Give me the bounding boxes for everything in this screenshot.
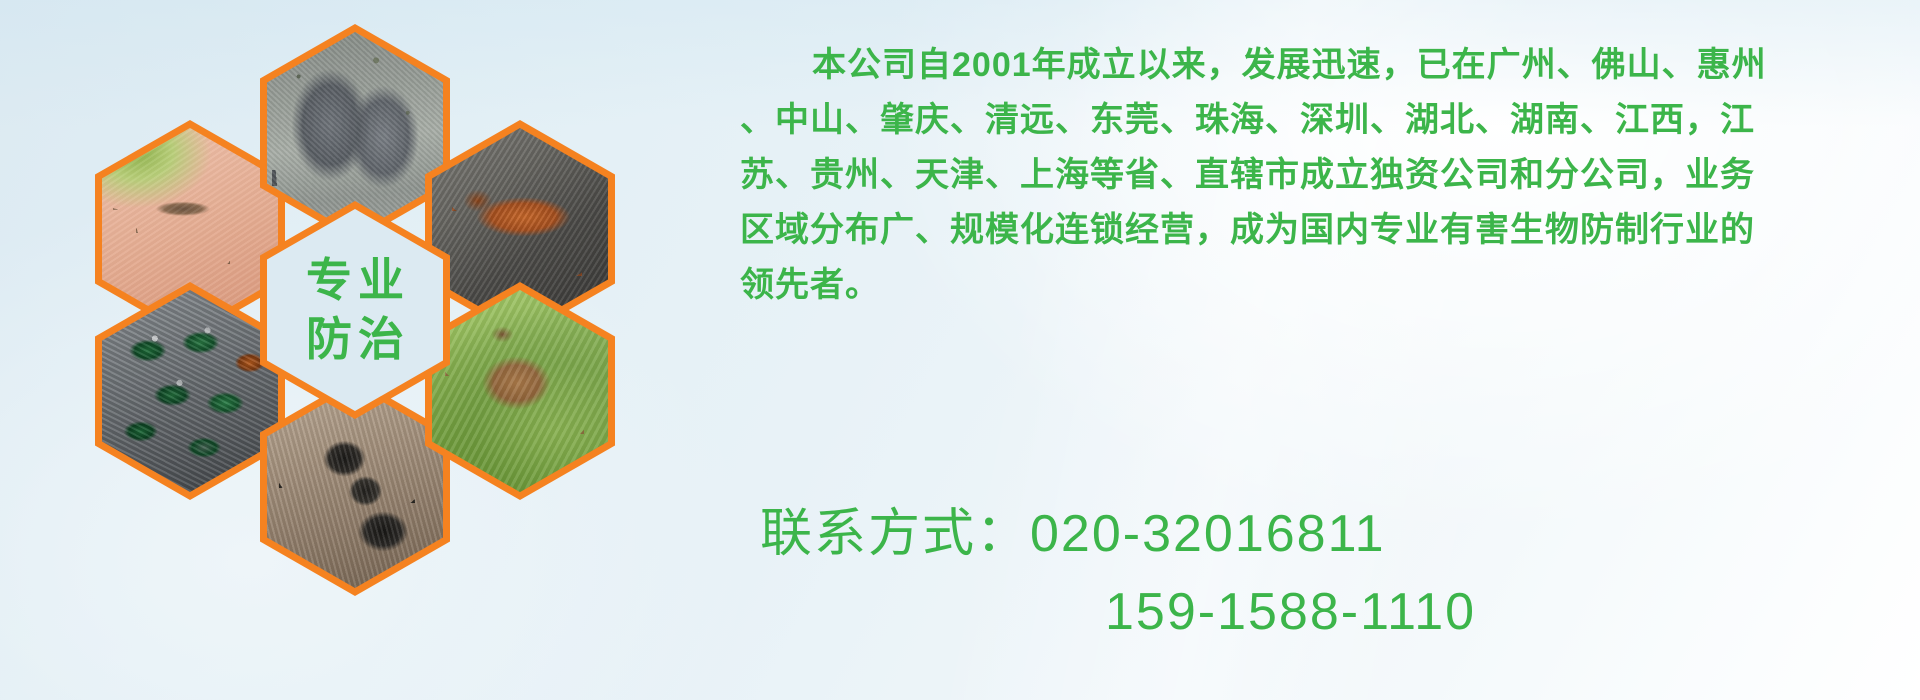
brand-logo-line1: 专业 [300,251,410,310]
description-line-5: 领先者。 [740,258,1880,313]
contact-info: 联系方式：020-32016811 159-1588-1110 [760,495,1476,651]
description-line-1: 本公司自2001年成立以来，发展迅速，已在广州、佛山、惠州 [740,38,1880,93]
contact-phone-secondary[interactable]: 159-1588-1110 [760,573,1476,651]
description-line-4: 区域分布广、规模化连锁经营，成为国内专业有害生物防制行业的 [740,203,1880,258]
hex-photo-cluster: 专业 防治 [95,8,595,568]
flies-photo [95,282,285,500]
promo-banner: 专业 防治 本公司自2001年成立以来，发展迅速，已在广州、佛山、惠州 、中山、… [0,0,1920,700]
brand-logo-hex: 专业 防治 [260,201,450,419]
stinkbug-photo [425,282,615,500]
brand-logo-text: 专业 防治 [300,251,410,369]
contact-phone-primary[interactable]: 联系方式：020-32016811 [760,495,1476,573]
description-line-2: 、中山、肇庆、清远、东莞、珠海、深圳、湖北、湖南、江西，江 [740,93,1880,148]
description-line-3: 苏、贵州、天津、上海等省、直辖市成立独资公司和分公司，业务 [740,148,1880,203]
stinkbug-image [432,290,608,492]
flies-image [102,290,278,492]
company-description: 本公司自2001年成立以来，发展迅速，已在广州、佛山、惠州 、中山、肇庆、清远、… [740,38,1880,313]
brand-logo-line2: 防治 [300,310,410,369]
